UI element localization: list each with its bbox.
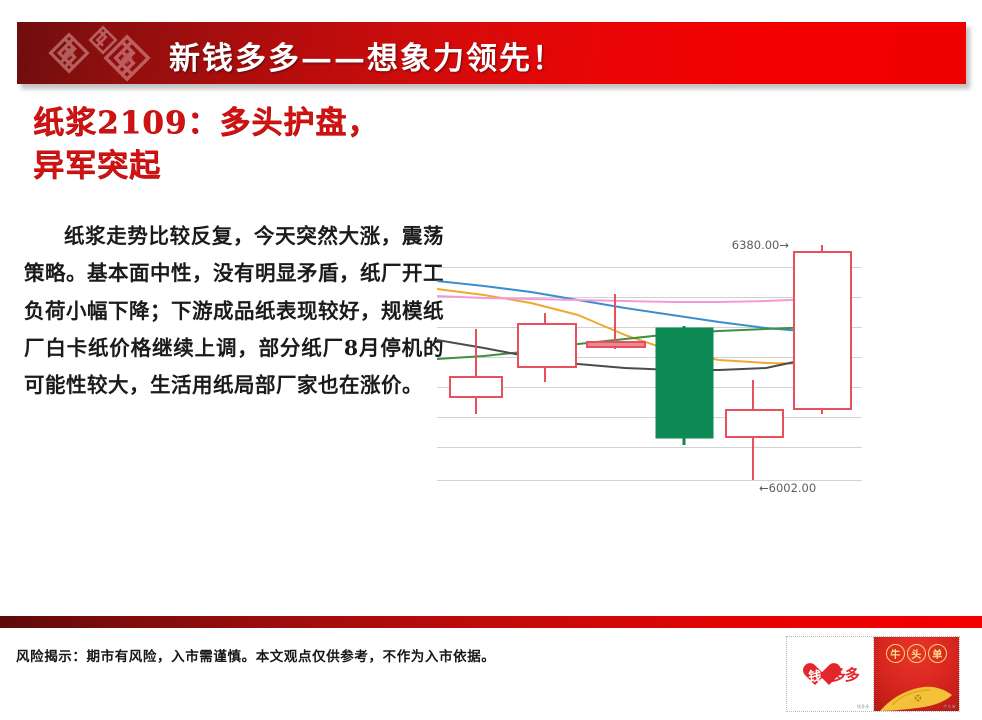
chinese-knot-diamond-icon — [35, 24, 165, 82]
ntd-char-1: 牛 — [886, 644, 905, 663]
candle-4 — [726, 380, 783, 480]
candle-5 — [794, 245, 851, 414]
niu-tou-dan-chars: 牛 头 单 — [886, 644, 947, 663]
body-paragraph: 纸浆走势比较反复，今天突然大涨，震荡策略。基本面中性，没有明显矛盾，纸厂开工负荷… — [24, 218, 444, 404]
heart-icon: 钱 — [801, 661, 829, 687]
price-label-low: ←6002.00 — [759, 481, 816, 495]
price-label-high: 6380.00→ — [732, 238, 790, 252]
header-banner: 新钱多多——想象力领先！ — [17, 22, 966, 84]
page-title-line2: 异军突起 — [33, 145, 453, 188]
candle-1 — [518, 313, 576, 382]
ma-lines — [437, 281, 852, 370]
niu-tou-dan-logo: 牛 头 单 牛头单 — [874, 637, 960, 711]
heart-icon-label: 钱 — [801, 661, 829, 687]
ma-line-blue — [437, 281, 852, 334]
bull-icon — [878, 671, 956, 711]
footer-divider — [0, 616, 982, 628]
chart-svg: 6380.00→ ←6002.00 — [437, 222, 862, 504]
page-title-line1: 纸浆2109：多头护盘， — [33, 102, 453, 145]
logo-stamp-left: 钱多多 — [857, 704, 870, 710]
page-title: 纸浆2109：多头护盘， 异军突起 — [33, 102, 453, 188]
footer-logos: 钱 多多 钱多多 牛 头 单 牛头单 — [786, 636, 960, 712]
risk-disclaimer: 风险揭示：期市有风险，入市需谨慎。本文观点仅供参考，不作为入市依据。 — [16, 645, 776, 665]
ntd-char-3: 单 — [928, 644, 947, 663]
header-title: 新钱多多——想象力领先！ — [169, 26, 565, 84]
candle-3 — [656, 326, 713, 445]
qian-duo-duo-logo: 钱 多多 钱多多 — [787, 637, 874, 711]
header-bar: 新钱多多——想象力领先！ — [17, 22, 966, 84]
ntd-char-2: 头 — [907, 644, 926, 663]
candle-0 — [450, 329, 502, 414]
slide-root: 新钱多多——想象力领先！ 纸浆2109：多头护盘， 异军突起 纸浆走势比较反复，… — [0, 0, 982, 720]
candlestick-chart: 6380.00→ ←6002.00 — [437, 222, 862, 504]
